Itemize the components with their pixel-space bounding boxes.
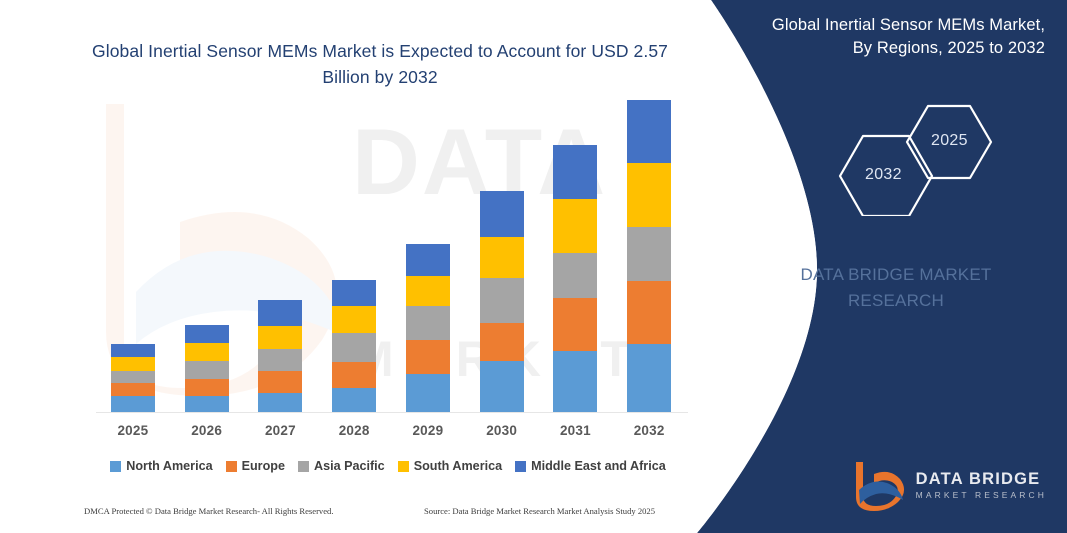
- brand-logo: DATA BRIDGE MARKET RESEARCH: [854, 459, 1047, 511]
- legend-label: South America: [414, 459, 502, 473]
- bar-segment: [332, 280, 376, 307]
- bar-segment: [406, 244, 450, 276]
- bar-segment: [111, 371, 155, 383]
- legend-swatch-icon: [226, 461, 237, 472]
- bar-segment: [553, 298, 597, 351]
- legend-label: North America: [126, 459, 212, 473]
- bar-segment: [258, 371, 302, 393]
- panel-brand-text: DATA BRIDGE MARKET RESEARCH: [751, 262, 1041, 313]
- legend-swatch-icon: [398, 461, 409, 472]
- bar-column: [480, 191, 524, 412]
- bar-segment: [258, 326, 302, 349]
- bar-column: [627, 100, 671, 412]
- x-axis-label: 2028: [324, 423, 384, 438]
- bar-segment: [406, 276, 450, 306]
- stacked-bar-chart: [96, 96, 686, 412]
- panel-title-line1: Global Inertial Sensor MEMs Market,: [745, 14, 1045, 37]
- bar-segment: [258, 300, 302, 326]
- logo-title: DATA BRIDGE: [916, 471, 1047, 488]
- bar-column: [332, 280, 376, 412]
- bar-segment: [332, 333, 376, 362]
- bar-segment: [332, 388, 376, 412]
- logo-mark-icon: [854, 459, 906, 511]
- x-axis-label: 2030: [472, 423, 532, 438]
- legend-item[interactable]: Middle East and Africa: [515, 459, 666, 473]
- legend-label: Asia Pacific: [314, 459, 385, 473]
- bar-segment: [185, 343, 229, 361]
- x-axis-label: 2029: [398, 423, 458, 438]
- x-axis-label: 2027: [250, 423, 310, 438]
- bar-segment: [185, 325, 229, 343]
- panel-brand-line1: DATA BRIDGE MARKET: [751, 262, 1041, 288]
- legend-label: Europe: [242, 459, 285, 473]
- bar-column: [258, 300, 302, 412]
- logo-text: DATA BRIDGE MARKET RESEARCH: [916, 471, 1047, 500]
- bar-segment: [553, 145, 597, 200]
- bar-column: [406, 244, 450, 412]
- bar-segment: [258, 393, 302, 412]
- panel-title-line2: By Regions, 2025 to 2032: [745, 37, 1045, 60]
- x-axis-label: 2025: [103, 423, 163, 438]
- bar-segment: [553, 199, 597, 252]
- bar-segment: [185, 396, 229, 412]
- logo-subtitle: MARKET RESEARCH: [916, 491, 1047, 500]
- right-panel: Global Inertial Sensor MEMs Market, By R…: [667, 0, 1067, 533]
- bar-segment: [406, 374, 450, 412]
- bar-segment: [185, 361, 229, 379]
- bar-segment: [111, 344, 155, 357]
- bar-segment: [111, 396, 155, 412]
- bar-segment: [258, 349, 302, 371]
- bar-column: [553, 145, 597, 412]
- hexagon-group: 2025 2032: [835, 96, 1045, 216]
- bar-segment: [627, 281, 671, 344]
- bar-segment: [480, 237, 524, 278]
- legend-item[interactable]: Europe: [226, 459, 285, 473]
- hexagon-shapes: [835, 96, 1045, 216]
- footer-source: Source: Data Bridge Market Research Mark…: [424, 506, 655, 516]
- panel-brand-line2: RESEARCH: [751, 288, 1041, 314]
- legend-swatch-icon: [515, 461, 526, 472]
- x-axis-label: 2026: [177, 423, 237, 438]
- page-title: Global Inertial Sensor MEMs Market is Ex…: [70, 38, 690, 91]
- bar-segment: [111, 383, 155, 396]
- x-axis-label: 2032: [619, 423, 679, 438]
- bar-segment: [553, 253, 597, 298]
- bar-segment: [627, 100, 671, 163]
- x-axis-label: 2031: [545, 423, 605, 438]
- footer: DMCA Protected © Data Bridge Market Rese…: [84, 506, 684, 526]
- bar-segment: [332, 306, 376, 333]
- bar-segment: [480, 191, 524, 237]
- legend-swatch-icon: [110, 461, 121, 472]
- legend-swatch-icon: [298, 461, 309, 472]
- bar-column: [185, 325, 229, 412]
- legend-item[interactable]: South America: [398, 459, 502, 473]
- bar-segment: [553, 351, 597, 412]
- bar-segment: [480, 323, 524, 361]
- infographic-canvas: DATA BRIDGE MARKET RESEARCH Global Inert…: [0, 0, 1067, 533]
- footer-dmca: DMCA Protected © Data Bridge Market Rese…: [84, 506, 334, 516]
- bar-segment: [332, 362, 376, 388]
- bar-segment: [406, 340, 450, 374]
- legend-item[interactable]: Asia Pacific: [298, 459, 385, 473]
- chart-legend: North AmericaEuropeAsia PacificSouth Ame…: [88, 455, 688, 477]
- x-axis-line: [96, 412, 688, 413]
- bar-segment: [406, 306, 450, 340]
- panel-title: Global Inertial Sensor MEMs Market, By R…: [745, 14, 1045, 61]
- hexagon-2025-label: 2025: [931, 132, 968, 150]
- legend-label: Middle East and Africa: [531, 459, 666, 473]
- bar-segment: [185, 379, 229, 396]
- bar-column: [111, 344, 155, 412]
- bar-segment: [480, 361, 524, 412]
- bar-segment: [627, 163, 671, 227]
- legend-item[interactable]: North America: [110, 459, 212, 473]
- bar-segment: [111, 357, 155, 370]
- bar-segment: [627, 344, 671, 412]
- hexagon-2032-label: 2032: [865, 166, 902, 184]
- bar-segment: [480, 278, 524, 323]
- bar-segment: [627, 227, 671, 280]
- x-axis-labels: 20252026202720282029203020312032: [96, 419, 686, 445]
